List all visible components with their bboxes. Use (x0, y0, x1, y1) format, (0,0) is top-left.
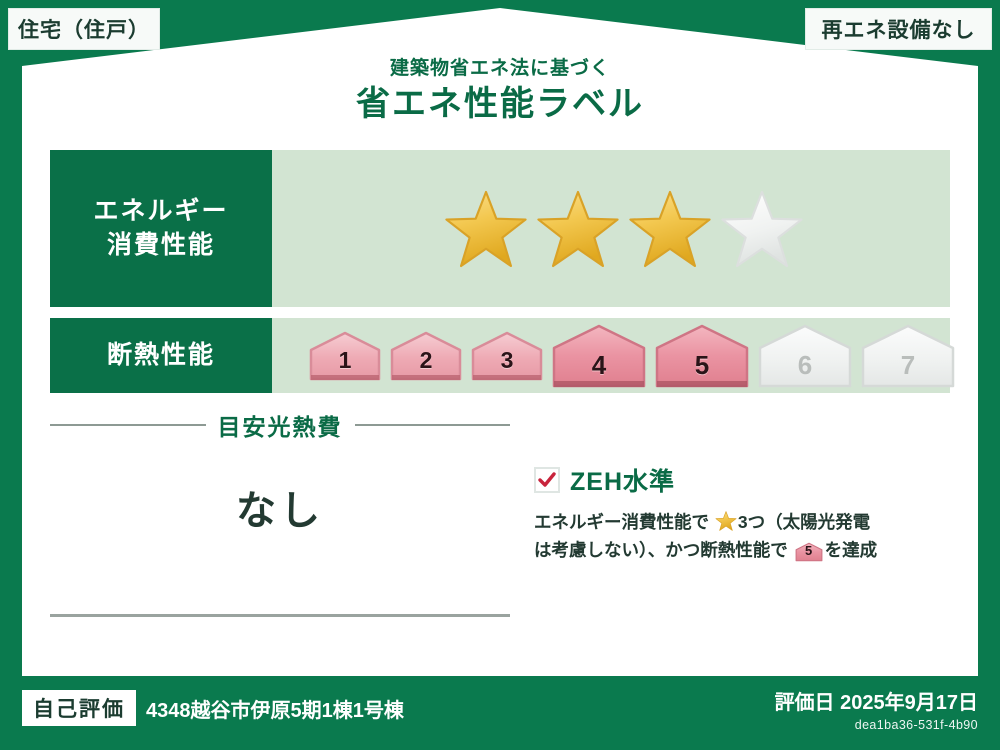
insulation-level-6-value: 6 (798, 350, 812, 389)
energy-label-line2: 消費性能 (107, 229, 215, 263)
energy-performance-label: 住宅（住戸） 再エネ設備なし 建築物省エネ法に基づく 省エネ性能ラベル エネルギ… (0, 0, 1000, 750)
star-icon-inline (715, 510, 737, 532)
zeh-description: エネルギー消費性能で 3つ（太陽光発電 は考慮しない）、かつ断熱性能で 5 を達… (534, 508, 954, 565)
evaluation-date-label: 評価日 (775, 692, 835, 714)
footer-left-group: 自己評価 4348越谷市伊原5期1棟1号棟 (22, 690, 404, 726)
insulation-level-3: 3 (470, 330, 544, 382)
building-name: 4348越谷市伊原5期1棟1号棟 (146, 694, 404, 723)
check-icon (537, 470, 557, 490)
self-evaluation-tag: 自己評価 (22, 690, 136, 726)
document-id: dea1ba36-531f-4b90 (775, 718, 978, 732)
label-footer: 自己評価 4348越谷市伊原5期1棟1号棟 評価日 2025年9月17日 dea… (0, 676, 1000, 750)
zeh-checkbox[interactable] (534, 467, 560, 493)
insulation-level-6: 6 (757, 323, 853, 389)
utility-cost-heading: 目安光熱費 (218, 408, 343, 442)
zeh-desc-house-value: 5 (795, 540, 823, 561)
insulation-level-scale: 1 2 3 (272, 318, 956, 393)
energy-consumption-label: エネルギー 消費性能 (50, 150, 272, 307)
title-heading: 省エネ性能ラベル (0, 85, 1000, 124)
insulation-level-4-value: 4 (592, 350, 606, 389)
insulation-level-4: 4 (551, 323, 647, 389)
renewable-equipment-tag: 再エネ設備なし (805, 8, 992, 50)
star-icon-empty-4 (719, 186, 805, 272)
zeh-desc-star-count: 3つ（太陽光発電 (738, 512, 870, 532)
title-subtitle: 建築物省エネ法に基づく (0, 58, 1000, 81)
energy-star-rating (272, 150, 950, 307)
zeh-standard-block: ZEH水準 エネルギー消費性能で 3つ（太陽光発電 は考慮しない）、かつ断熱性能… (534, 462, 954, 565)
evaluation-date: 評価日 2025年9月17日 (775, 686, 978, 715)
insulation-performance-panel: 断熱性能 1 2 (50, 318, 950, 393)
label-title: 建築物省エネ法に基づく 省エネ性能ラベル (0, 58, 1000, 124)
rule-right (355, 424, 511, 426)
insulation-level-1-value: 1 (339, 347, 352, 382)
insulation-level-7-value: 7 (901, 350, 915, 389)
insulation-level-1: 1 (308, 330, 382, 382)
zeh-desc-part1: エネルギー消費性能で (534, 512, 709, 532)
star-icon-filled-1 (443, 186, 529, 272)
insulation-performance-label: 断熱性能 (50, 318, 272, 393)
zeh-title-row: ZEH水準 (534, 462, 954, 498)
rule-left (50, 424, 206, 426)
insulation-level-7: 7 (860, 323, 956, 389)
star-icon-filled-2 (535, 186, 621, 272)
utility-cost-heading-row: 目安光熱費 (50, 408, 510, 442)
insulation-level-5-value: 5 (695, 350, 709, 389)
insulation-level-3-value: 3 (501, 347, 514, 382)
insulation-level-5: 5 (654, 323, 750, 389)
zeh-title: ZEH水準 (570, 462, 675, 498)
energy-consumption-panel: エネルギー 消費性能 (50, 150, 950, 307)
evaluation-date-value: 2025年9月17日 (840, 692, 978, 714)
building-type-tag: 住宅（住戸） (8, 8, 160, 50)
footer-right-group: 評価日 2025年9月17日 dea1ba36-531f-4b90 (775, 686, 978, 732)
utility-cost-value: なし (50, 478, 510, 536)
star-icon-filled-3 (627, 186, 713, 272)
energy-label-line1: エネルギー (93, 195, 228, 229)
house-icon-inline: 5 (795, 542, 823, 562)
zeh-desc-part2: は考慮しない）、かつ断熱性能で (534, 540, 788, 560)
utility-cost-divider (50, 614, 510, 617)
insulation-level-2: 2 (389, 330, 463, 382)
zeh-desc-part3: を達成 (825, 540, 878, 560)
insulation-level-2-value: 2 (420, 347, 433, 382)
